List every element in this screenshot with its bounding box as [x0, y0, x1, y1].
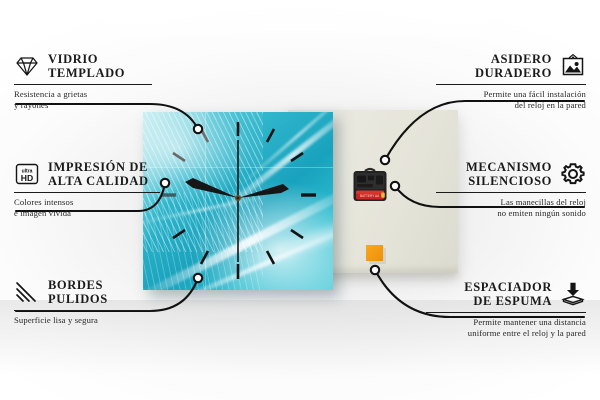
top-vignette: [0, 0, 600, 48]
feature-desc-line2: del reloj en la pared: [436, 100, 586, 111]
foam-spacer-icon: [560, 281, 586, 307]
feature-desc-line1: Superficie lisa y segura: [14, 315, 164, 326]
feature-desc-line2: uniforme entre el reloj y la pared: [426, 328, 586, 339]
ultra-hd-icon-bottom-text: HD: [21, 173, 33, 183]
feature-title-line1: BORDES: [48, 278, 108, 292]
feature-desc-line1: Permite una fácil instalación: [436, 89, 586, 100]
feature-title-line1: IMPRESIÓN DE: [48, 160, 149, 174]
divider: [436, 192, 586, 193]
diamond-icon: [14, 53, 40, 79]
feature-desc-line2: no emiten ningún sonido: [436, 208, 586, 219]
feature-title-line2: ALTA CALIDAD: [48, 174, 149, 188]
feature-title-line1: VIDRIO: [48, 52, 125, 66]
feature-title-line1: ESPACIADOR: [464, 280, 552, 294]
feature-desc-line2: y rayones: [14, 100, 164, 111]
feature-desc-line1: Las manecillas del reloj: [436, 197, 586, 208]
feature-title-line2: DE ESPUMA: [464, 294, 552, 308]
feature-desc-line1: Colores intensos: [14, 197, 172, 208]
feature-title-line2: PULIDOS: [48, 292, 108, 306]
feature-title-line2: DURADERO: [475, 66, 552, 80]
feature-desc-line2: e imagen vívida: [14, 208, 172, 219]
divider: [426, 312, 586, 313]
divider: [14, 192, 160, 193]
feature-asidero-duradero: ASIDERO DURADERO Permite una fácil insta…: [436, 52, 586, 110]
polished-edges-icon: [14, 279, 40, 305]
feature-impresion-alta-calidad: ultra HD IMPRESIÓN DE ALTA CALIDAD Color…: [14, 160, 172, 218]
hanging-frame-icon: [560, 53, 586, 79]
clock-mechanism: BATTERY AA: [351, 166, 389, 204]
divider: [436, 84, 586, 85]
feature-mecanismo-silencioso: MECANISMO SILENCIOSO Las manecillas del …: [436, 160, 586, 218]
ultra-hd-icon: ultra HD: [14, 161, 40, 187]
infographic-canvas: BATTERY AA: [0, 0, 600, 400]
feature-title-line2: SILENCIOSO: [466, 174, 552, 188]
feature-title-line1: MECANISMO: [466, 160, 552, 174]
gear-icon: [560, 161, 586, 187]
feature-desc-line1: Permite mantener una distancia: [426, 317, 586, 328]
feature-title-line1: ASIDERO: [475, 52, 552, 66]
feature-bordes-pulidos: BORDES PULIDOS Superficie lisa y segura: [14, 278, 164, 326]
feature-vidrio-templado: VIDRIO TEMPLADO Resistencia a grietas y …: [14, 52, 164, 110]
svg-text:BATTERY AA: BATTERY AA: [360, 194, 380, 198]
divider: [14, 84, 152, 85]
foam-spacer-sample: [366, 245, 383, 261]
feature-desc-line1: Resistencia a grietas: [14, 89, 164, 100]
feature-espaciador-de-espuma: ESPACIADOR DE ESPUMA Permite mantener un…: [426, 280, 586, 338]
feature-title-line2: TEMPLADO: [48, 66, 125, 80]
divider: [14, 310, 152, 311]
